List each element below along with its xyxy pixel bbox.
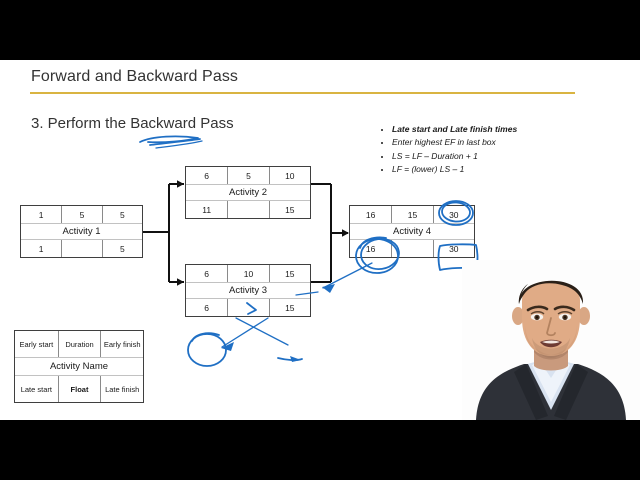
ink-underline-a3-late-finish <box>278 356 302 362</box>
video-frame: Forward and Backward Pass 3. Perform the… <box>0 0 640 480</box>
letterbox-bottom <box>0 420 640 480</box>
presenter-video <box>462 260 640 420</box>
letterbox-top <box>0 0 640 60</box>
presenter-portrait <box>462 260 640 420</box>
ink-arrow-into-a3-late-start <box>221 303 288 351</box>
ink-heading-underline <box>140 136 202 148</box>
ink-circle-a4-early-finish <box>439 201 473 225</box>
ink-circle-a3-late-start <box>188 333 226 366</box>
